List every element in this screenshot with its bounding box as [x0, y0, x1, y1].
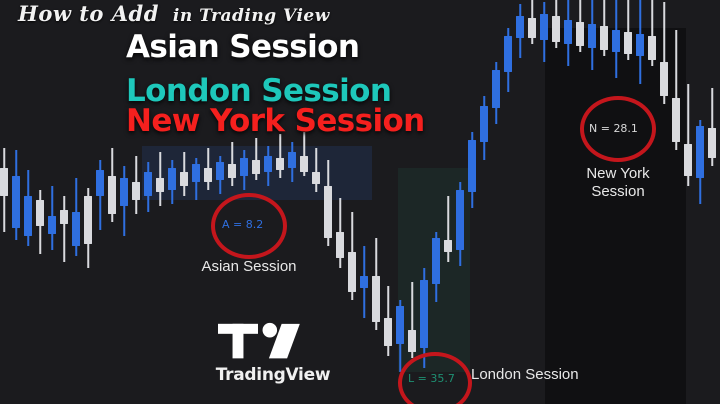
candle-body — [180, 172, 188, 186]
candle-body — [240, 158, 248, 176]
candle-body — [252, 160, 260, 174]
candle — [432, 0, 440, 404]
candle-body — [168, 168, 176, 190]
newyork-value: N = 28.1 — [589, 122, 638, 135]
candle-body — [504, 36, 512, 72]
candle — [108, 0, 116, 404]
candle-body — [576, 22, 584, 46]
candle-body — [708, 128, 716, 158]
candle — [564, 0, 572, 404]
candle — [624, 0, 632, 404]
candle-body — [372, 276, 380, 322]
headline-newyork-session: New York Session — [126, 106, 425, 137]
candlestick-chart — [0, 0, 720, 404]
tradingview-logo-block: TradingView — [198, 322, 348, 385]
asian-value: A = 8.2 — [222, 218, 263, 231]
newyork-session-label-line1: New York — [566, 165, 670, 184]
candle — [372, 0, 380, 404]
candle — [0, 0, 8, 404]
newyork-session-label-line2: Session — [566, 183, 670, 202]
candle — [12, 0, 20, 404]
candle-wick — [279, 134, 281, 178]
candle-body — [480, 106, 488, 142]
candle — [576, 0, 584, 404]
candle — [660, 0, 668, 404]
candle-body — [132, 182, 140, 200]
candle-body — [348, 252, 356, 292]
candle-body — [264, 156, 272, 172]
candle — [588, 0, 596, 404]
candle — [672, 0, 680, 404]
candle-body — [276, 158, 284, 170]
candle-body — [216, 162, 224, 180]
candle-body — [384, 318, 392, 346]
candle — [96, 0, 104, 404]
candle-body — [60, 210, 68, 224]
candle — [504, 0, 512, 404]
candle-body — [144, 172, 152, 196]
candle — [492, 0, 500, 404]
candle-wick — [315, 148, 317, 192]
candle — [84, 0, 92, 404]
candle-body — [396, 306, 404, 344]
candle-body — [192, 164, 200, 182]
candle-body — [312, 172, 320, 184]
candle-body — [636, 34, 644, 56]
candle-body — [12, 176, 20, 228]
tradingview-logo-text: TradingView — [198, 365, 348, 385]
candle — [516, 0, 524, 404]
candle-body — [300, 156, 308, 172]
candle — [408, 0, 416, 404]
tradingview-logo-icon — [218, 322, 327, 362]
candle-body — [24, 196, 32, 236]
candle — [444, 0, 452, 404]
script-suffix: in Trading View — [173, 6, 330, 26]
candle-body — [588, 24, 596, 48]
candle-body — [120, 178, 128, 206]
candle-body — [324, 186, 332, 238]
candle — [468, 0, 476, 404]
candle-wick — [63, 196, 65, 262]
candle — [396, 0, 404, 404]
candle — [708, 0, 716, 404]
candle-body — [492, 70, 500, 108]
candle-body — [456, 190, 464, 250]
candle — [48, 0, 56, 404]
candle-body — [672, 98, 680, 142]
candle-body — [84, 196, 92, 244]
candle-body — [468, 140, 476, 192]
candle — [384, 0, 392, 404]
candle-body — [564, 20, 572, 44]
candle-body — [156, 178, 164, 192]
script-prefix: How to Add — [18, 1, 159, 26]
candle-body — [528, 18, 536, 38]
candle — [72, 0, 80, 404]
candle-body — [108, 176, 116, 214]
candle-body — [696, 126, 704, 178]
trading-view-thumbnail: How to Addin Trading View Asian Session … — [0, 0, 720, 404]
candle-body — [408, 330, 416, 352]
candle-body — [516, 16, 524, 38]
london-session-label: London Session — [471, 366, 579, 385]
candle-body — [612, 30, 620, 52]
candle-body — [48, 216, 56, 234]
candle — [360, 0, 368, 404]
candle-body — [288, 152, 296, 168]
asian-session-label: Asian Session — [179, 258, 319, 277]
candle-body — [444, 240, 452, 252]
candle — [24, 0, 32, 404]
candle — [684, 0, 692, 404]
script-tagline: How to Addin Trading View — [18, 1, 330, 26]
candle-body — [600, 26, 608, 50]
candle — [528, 0, 536, 404]
candle-body — [420, 280, 428, 348]
candle-body — [204, 168, 212, 182]
headline-asian-session: Asian Session — [126, 32, 359, 63]
candle-body — [432, 238, 440, 284]
candle-body — [336, 232, 344, 258]
candle — [552, 0, 560, 404]
candle-body — [72, 212, 80, 246]
candle-body — [96, 170, 104, 196]
candle — [36, 0, 44, 404]
candle — [540, 0, 548, 404]
candle — [60, 0, 68, 404]
candle-body — [552, 16, 560, 42]
candle-body — [360, 276, 368, 288]
candle-body — [228, 164, 236, 178]
candle-body — [684, 144, 692, 176]
london-value: L = 35.7 — [408, 372, 455, 385]
candle — [420, 0, 428, 404]
candle — [612, 0, 620, 404]
candle-body — [36, 200, 44, 226]
candle — [636, 0, 644, 404]
candle-body — [660, 62, 668, 96]
candle-body — [648, 36, 656, 60]
candle — [456, 0, 464, 404]
candle — [480, 0, 488, 404]
candle — [648, 0, 656, 404]
candle — [600, 0, 608, 404]
candle — [696, 0, 704, 404]
candle-body — [540, 14, 548, 40]
candle-body — [0, 168, 8, 196]
candle-body — [624, 32, 632, 54]
candle-wick — [447, 196, 449, 262]
